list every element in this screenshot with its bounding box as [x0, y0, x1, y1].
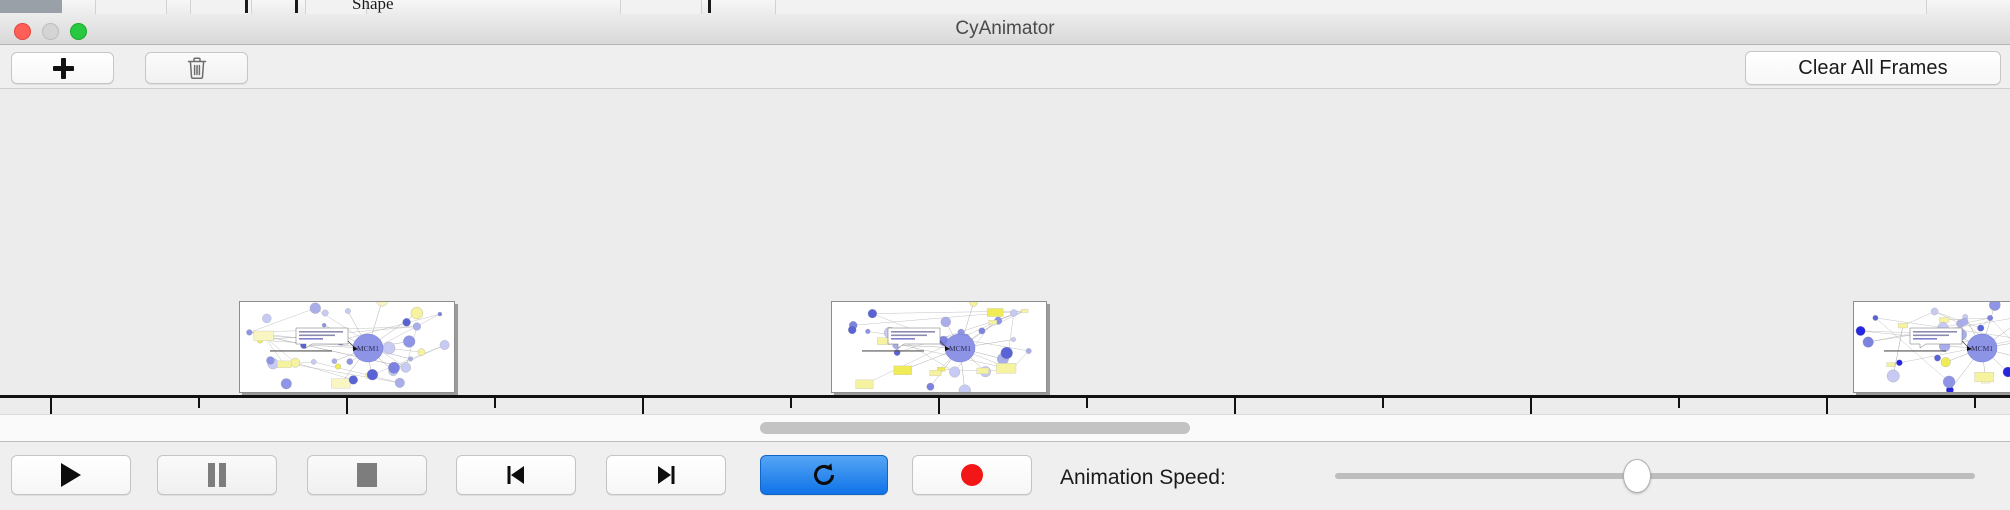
axis-tick-minor	[1678, 398, 1680, 408]
axis-tick-minor	[790, 398, 792, 408]
axis-tick-major	[938, 398, 940, 415]
background-shape-label: Shape	[352, 0, 394, 14]
axis-tick-minor	[494, 398, 496, 408]
background-chip-5	[775, 0, 1927, 14]
playback-control-bar: Animation Speed:	[0, 441, 2010, 510]
skip-to-start-button[interactable]	[456, 455, 576, 495]
axis-tick-minor	[1974, 398, 1976, 408]
axis-tick-major	[346, 398, 348, 415]
skip-to-end-button[interactable]	[606, 455, 726, 495]
slider-track	[1335, 473, 1975, 479]
clear-all-frames-button[interactable]: Clear All Frames	[1745, 51, 2001, 85]
toolbar: Clear All Frames	[0, 45, 2010, 89]
play-icon	[61, 463, 81, 487]
timeline-axis	[0, 395, 2010, 398]
add-frame-button[interactable]	[11, 52, 114, 84]
axis-tick-major	[1530, 398, 1532, 415]
play-button[interactable]	[11, 455, 131, 495]
delete-frame-button[interactable]	[145, 52, 248, 84]
pause-icon	[207, 463, 227, 487]
background-window-chip	[0, 0, 62, 13]
axis-tick-minor	[1382, 398, 1384, 408]
timeline-frame[interactable]: MCM1	[1853, 301, 2010, 393]
background-tick-1	[245, 0, 248, 13]
background-tick-3	[708, 0, 711, 13]
window-title: CyAnimator	[0, 14, 2010, 44]
record-button[interactable]	[912, 455, 1032, 495]
skip-to-end-icon	[653, 463, 679, 487]
record-icon	[961, 464, 983, 486]
background-chip-2	[190, 0, 252, 14]
trash-icon	[186, 56, 208, 80]
axis-tick-major	[1826, 398, 1828, 415]
svg-text:MCM1: MCM1	[357, 344, 379, 353]
timeline-scrollbar-thumb[interactable]	[760, 422, 1190, 434]
plus-icon	[52, 57, 74, 79]
timeline-frame[interactable]: MCM1	[831, 301, 1047, 393]
axis-tick-minor	[198, 398, 200, 408]
animation-speed-slider[interactable]	[1335, 473, 1975, 479]
svg-text:MCM1: MCM1	[1971, 344, 1993, 353]
cyanimator-window: Shape CyAnimator Clear All Frames MCM1 M…	[0, 0, 2010, 510]
loop-button[interactable]	[760, 455, 888, 495]
timeline-scrollbar[interactable]	[0, 414, 2010, 442]
axis-tick-major	[1234, 398, 1236, 415]
background-chip-1	[95, 0, 167, 14]
stop-button[interactable]	[307, 455, 427, 495]
loop-icon	[811, 462, 837, 488]
background-window-strip: Shape	[0, 0, 2010, 15]
skip-to-start-icon	[503, 463, 529, 487]
background-chip-4	[620, 0, 702, 14]
slider-thumb[interactable]	[1623, 459, 1651, 493]
animation-speed-label: Animation Speed:	[1060, 466, 1226, 490]
background-tick-2	[295, 0, 298, 13]
stop-icon	[357, 463, 377, 487]
axis-tick-minor	[1086, 398, 1088, 408]
timeline-frame[interactable]: MCM1	[239, 301, 455, 393]
title-bar: CyAnimator	[0, 14, 2010, 45]
axis-tick-major	[50, 398, 52, 415]
pause-button[interactable]	[157, 455, 277, 495]
timeline-panel[interactable]: MCM1 MCM1 MCM1 2131415161718 Seconds	[0, 89, 2010, 415]
axis-tick-major	[642, 398, 644, 415]
svg-text:MCM1: MCM1	[949, 344, 971, 353]
